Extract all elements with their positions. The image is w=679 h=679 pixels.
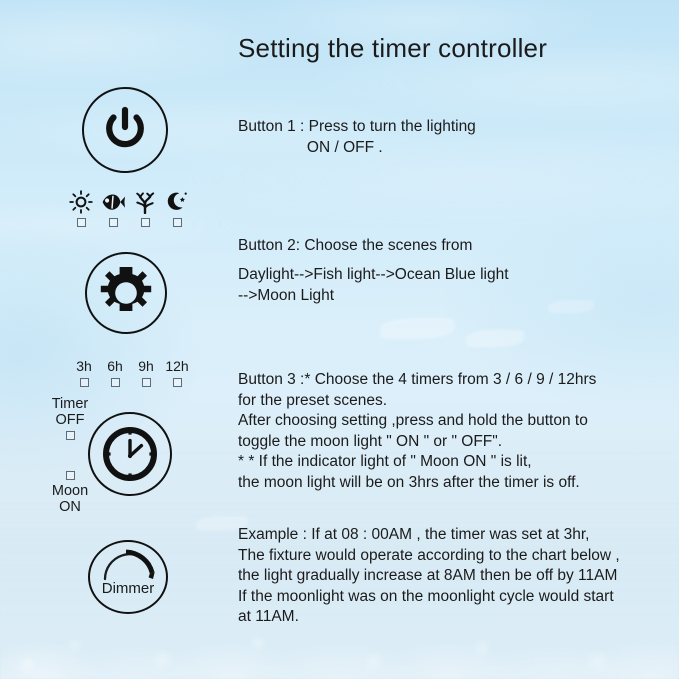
timer-off-checkbox[interactable] xyxy=(66,431,75,440)
scene-indicator-ocean-blue[interactable] xyxy=(132,190,158,227)
moon-icon xyxy=(165,190,189,214)
power-button[interactable] xyxy=(82,87,168,173)
scene-checkbox-daylight[interactable] xyxy=(77,218,86,227)
timer-off-label-line1: Timer xyxy=(44,396,96,412)
coral-icon xyxy=(133,190,157,214)
scene-checkbox-moon[interactable] xyxy=(173,218,182,227)
fish-icon xyxy=(100,191,126,213)
timer-indicator-12h[interactable]: 12h xyxy=(161,359,193,387)
dimmer-label: Dimmer xyxy=(90,580,166,597)
timer-indicator-3h[interactable]: 3h xyxy=(68,359,100,387)
scene-checkbox-fish[interactable] xyxy=(109,218,118,227)
dimmer-arc-icon xyxy=(99,548,161,582)
clock-icon xyxy=(99,423,161,485)
button1-instructions: Button 1 : Press to turn the lighting ON… xyxy=(238,117,476,158)
moon-on-indicator[interactable]: Moon ON xyxy=(44,471,96,515)
timer-checkbox-6h[interactable] xyxy=(111,378,120,387)
timer-label-3h: 3h xyxy=(68,359,100,374)
timer-button[interactable] xyxy=(88,412,172,496)
instruction-graphic: Setting the timer controller Button 1 : … xyxy=(0,0,679,679)
timer-label-9h: 9h xyxy=(130,359,162,374)
power-icon xyxy=(102,106,148,154)
timer-indicator-row: 3h 6h 9h 12h xyxy=(68,359,192,397)
scene-indicator-daylight[interactable] xyxy=(68,190,94,227)
timer-off-indicator[interactable]: Timer OFF xyxy=(44,396,96,440)
timer-checkbox-3h[interactable] xyxy=(80,378,89,387)
page-title: Setting the timer controller xyxy=(238,33,547,64)
button3-instructions: Button 3 :* Choose the 4 timers from 3 /… xyxy=(238,370,596,493)
dimmer-button[interactable]: Dimmer xyxy=(88,540,168,614)
moon-on-label-line2: ON xyxy=(44,499,96,515)
scene-indicator-fish[interactable] xyxy=(100,190,126,227)
scene-checkbox-ocean-blue[interactable] xyxy=(141,218,150,227)
timer-off-label-line2: OFF xyxy=(44,412,96,428)
scene-indicator-row xyxy=(68,190,190,242)
timer-checkbox-12h[interactable] xyxy=(173,378,182,387)
button2-instructions: Daylight-->Fish light-->Ocean Blue light… xyxy=(238,265,509,306)
sun-icon xyxy=(69,190,93,214)
gear-icon xyxy=(98,265,154,321)
timer-indicator-9h[interactable]: 9h xyxy=(130,359,162,387)
timer-label-6h: 6h xyxy=(99,359,131,374)
scene-button[interactable] xyxy=(85,252,167,334)
timer-indicator-6h[interactable]: 6h xyxy=(99,359,131,387)
moon-on-label-line1: Moon xyxy=(44,483,96,499)
timer-checkbox-9h[interactable] xyxy=(142,378,151,387)
example-instructions: Example : If at 08 : 00AM , the timer wa… xyxy=(238,525,620,628)
scene-indicator-moon[interactable] xyxy=(164,190,190,227)
moon-on-checkbox[interactable] xyxy=(66,471,75,480)
timer-label-12h: 12h xyxy=(161,359,193,374)
button2-heading: Button 2: Choose the scenes from xyxy=(238,236,472,257)
